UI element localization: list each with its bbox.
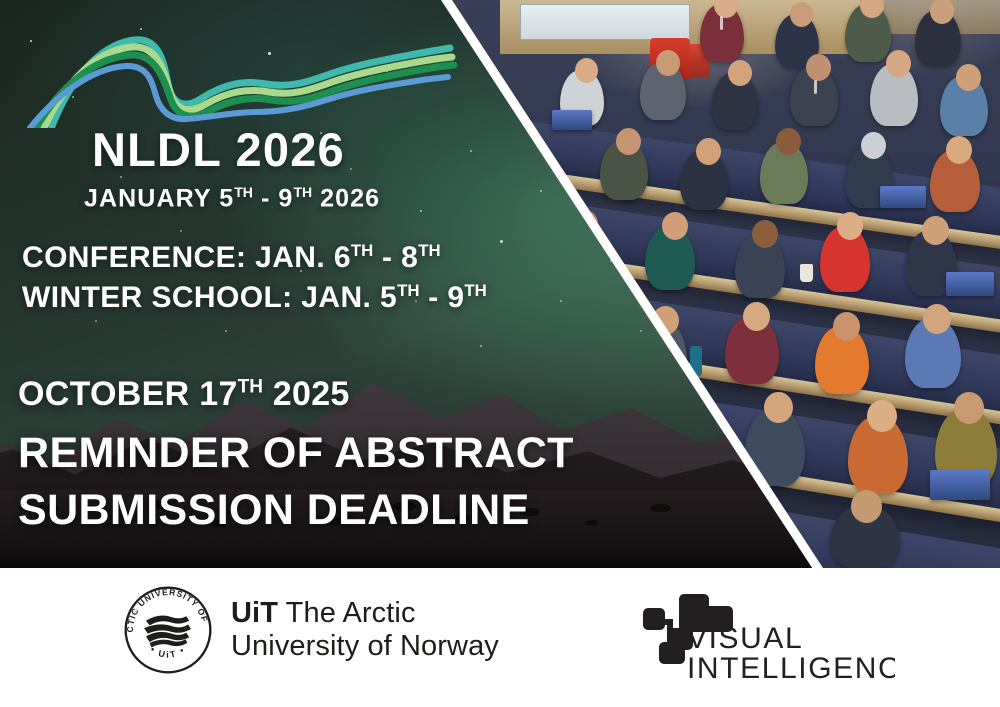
laptop [552, 110, 592, 130]
attendee-head [922, 216, 949, 245]
attendee-head [923, 304, 951, 334]
attendee-head [656, 50, 680, 76]
ordinal-suffix: TH [238, 377, 263, 398]
footer-logo-bar: THE ARCTIC UNIVERSITY OF NORWAY • UiT • … [0, 568, 1000, 707]
date-range-year: 2026 [312, 184, 380, 212]
uit-wordmark-line2: University of Norway [231, 630, 499, 663]
uit-logo[interactable]: THE ARCTIC UNIVERSITY OF NORWAY • UiT • … [122, 584, 499, 676]
visual-intelligence-mark: VISUAL INTELLIGENCE [637, 592, 895, 682]
attendee-head [867, 400, 897, 432]
projection-screen [520, 4, 690, 40]
ordinal-suffix: TH [293, 184, 312, 200]
page-title: NLDL 2026 [92, 126, 345, 173]
attendee-head [616, 128, 641, 155]
attendee-head [662, 212, 688, 240]
uit-seal-icon: THE ARCTIC UNIVERSITY OF NORWAY • UiT • [122, 584, 214, 676]
vi-text-line1: VISUAL [687, 622, 803, 655]
attendee-head [575, 58, 598, 83]
attendee-head [956, 64, 981, 91]
coffee-cup [800, 264, 813, 282]
attendee-head [790, 2, 813, 27]
deadline-headline-line2: SUBMISSION DEADLINE [18, 489, 530, 532]
deadline-date-year: 2025 [263, 375, 350, 413]
uit-emblem [144, 615, 191, 647]
ordinal-suffix: TH [418, 241, 440, 260]
attendee-head [886, 50, 911, 77]
attendee-head [752, 220, 778, 248]
attendee-head [743, 302, 770, 331]
poster-root: NLDL 2026 JANUARY 5TH - 9TH 2026 CONFERE… [0, 0, 1000, 707]
attendee-head [806, 54, 831, 81]
vi-text-line2: INTELLIGENCE [687, 652, 895, 682]
attendee-head [833, 312, 860, 341]
uit-wordmark-line1: UiT The Arctic [231, 597, 499, 630]
conference-dates-line: CONFERENCE: JAN. 6TH - 8TH [22, 243, 441, 273]
attendee-head [851, 490, 882, 523]
uit-wordmark-rest: The Arctic [278, 597, 416, 629]
attendee-head [776, 128, 801, 155]
attendee-head [837, 212, 863, 240]
visual-intelligence-logo[interactable]: VISUAL INTELLIGENCE [637, 592, 895, 682]
winter-school-dates-line: WINTER SCHOOL: JAN. 5TH - 9TH [22, 283, 487, 313]
lanyard [814, 80, 817, 94]
laptop [946, 272, 994, 296]
ordinal-suffix: TH [351, 241, 373, 260]
ordinal-suffix: TH [234, 184, 253, 200]
attendee-head [861, 132, 886, 159]
uit-wordmark-bold: UiT [231, 597, 278, 629]
deadline-headline-line1: REMINDER OF ABSTRACT [18, 432, 574, 475]
lanyard [720, 16, 723, 30]
attendee-head [728, 60, 752, 86]
winter-school-mid: - 9 [419, 281, 464, 314]
laptop [880, 186, 926, 208]
svg-text:• UiT •: • UiT • [148, 644, 187, 660]
event-date-range: JANUARY 5TH - 9TH 2026 [84, 185, 380, 211]
date-range-mid: - 9 [253, 184, 294, 212]
ordinal-suffix: TH [464, 281, 486, 300]
winter-school-label: WINTER SCHOOL: JAN. 5 [22, 281, 397, 314]
conference-mid: - 8 [373, 241, 418, 274]
ordinal-suffix: TH [397, 281, 419, 300]
date-range-prefix: JANUARY 5 [84, 184, 234, 212]
deadline-date: OCTOBER 17TH 2025 [18, 377, 350, 411]
uit-wordmark: UiT The Arctic University of Norway [231, 597, 499, 663]
attendee-head [764, 392, 793, 423]
attendee-head [954, 392, 984, 424]
attendee-head [696, 138, 721, 165]
laptop [930, 470, 990, 500]
conference-label: CONFERENCE: JAN. 6 [22, 241, 351, 274]
deadline-date-prefix: OCTOBER 17 [18, 375, 238, 413]
attendee-head [946, 136, 972, 164]
